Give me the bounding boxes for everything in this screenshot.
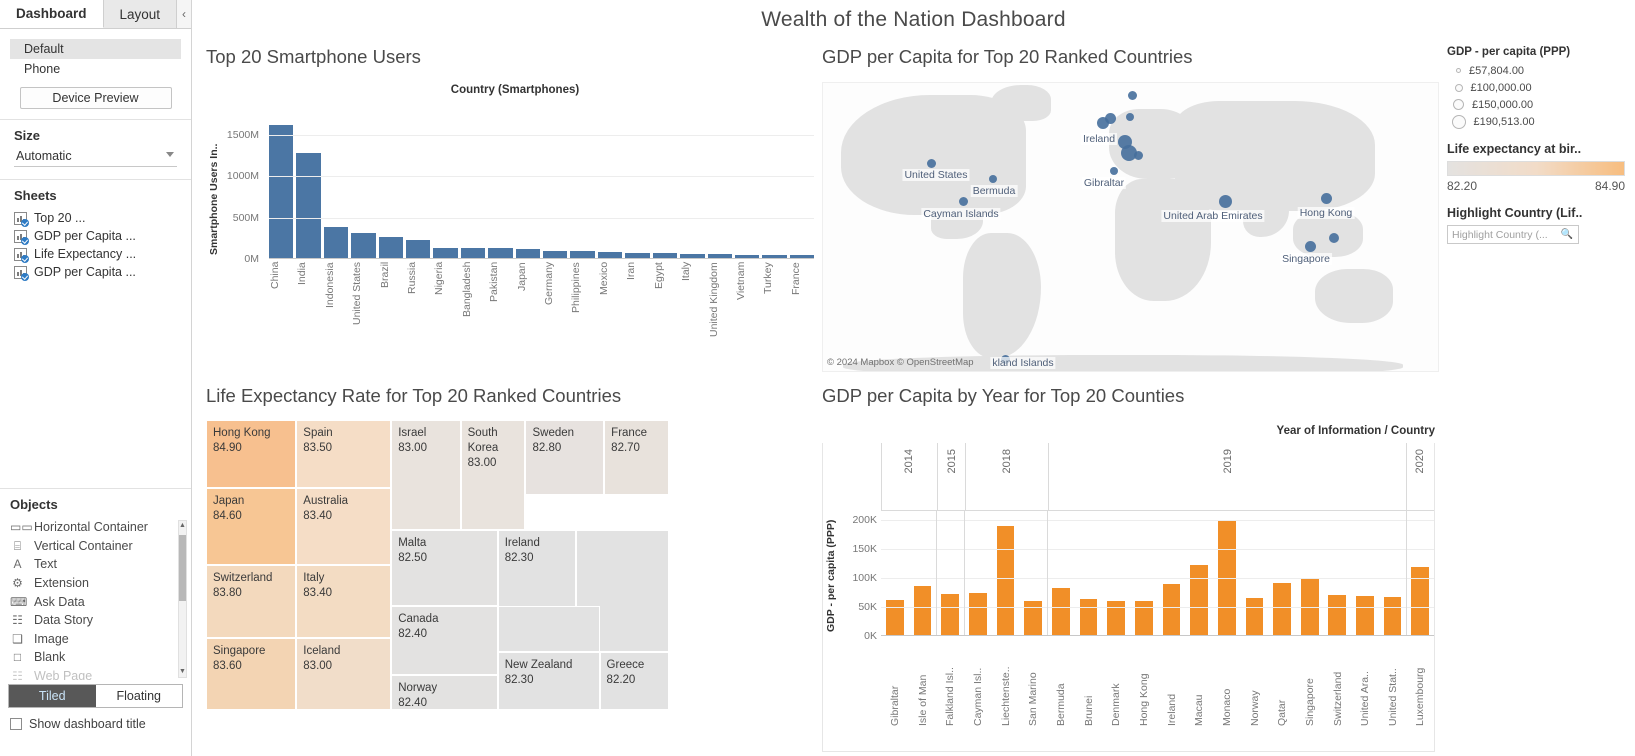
year-group-header: 2020 bbox=[1406, 443, 1434, 510]
map-point[interactable] bbox=[1329, 233, 1339, 243]
treemap-cell-value: 82.40 bbox=[398, 696, 490, 710]
object-item-ask-data[interactable]: ⌨ Ask Data bbox=[10, 592, 191, 611]
gdp-year-header-row: 20142015201820192020 bbox=[881, 443, 1434, 511]
treemap-cell-label: New Zealand bbox=[505, 658, 593, 673]
x-tick-label: Luxembourg bbox=[1406, 637, 1434, 729]
map-label-united-states: United States bbox=[902, 169, 969, 181]
color-legend-scale: 82.20 84.90 bbox=[1447, 179, 1625, 193]
bar[interactable] bbox=[1246, 598, 1264, 635]
treemap-cell-value: 83.00 bbox=[398, 441, 453, 456]
bar[interactable] bbox=[543, 251, 567, 258]
map-point[interactable] bbox=[989, 175, 997, 183]
map-label-ireland: Ireland bbox=[1081, 133, 1117, 145]
object-label: Extension bbox=[34, 576, 89, 590]
treemap-cell[interactable]: Singapore83.60 bbox=[206, 638, 296, 711]
object-label: Web Page bbox=[34, 669, 92, 680]
floating-button[interactable]: Floating bbox=[96, 685, 183, 707]
x-tick-label: Egypt bbox=[653, 262, 677, 367]
legend-circle-icon bbox=[1456, 68, 1461, 73]
y-tick-label: 150K bbox=[852, 543, 877, 555]
bar[interactable] bbox=[570, 251, 594, 258]
sheet-item-gdp-year[interactable]: GDP per Capita ... bbox=[10, 263, 181, 281]
year-label: 2014 bbox=[903, 449, 915, 473]
size-heading: Size bbox=[14, 128, 181, 143]
y-tick-label: 200K bbox=[852, 514, 877, 526]
object-item-web-page[interactable]: ☷ Web Page bbox=[10, 667, 191, 680]
size-value: Automatic bbox=[16, 149, 72, 163]
gdp-year-bars bbox=[881, 511, 1434, 636]
bar-slot bbox=[1019, 511, 1047, 635]
bar-slot bbox=[1102, 511, 1130, 635]
group-separator bbox=[964, 511, 965, 635]
vertical-container-icon: ⌸ bbox=[10, 540, 25, 552]
collapse-panel-icon[interactable]: ‹ bbox=[177, 0, 191, 28]
bar[interactable] bbox=[708, 254, 732, 258]
treemap-cell[interactable]: Italy83.40 bbox=[296, 565, 391, 638]
smartphone-y-ticks: 0M500M1000M1500M bbox=[224, 114, 264, 259]
highlight-country-placeholder: Highlight Country (... bbox=[1452, 229, 1548, 241]
treemap-cell-value: 83.50 bbox=[303, 441, 384, 456]
tab-layout[interactable]: Layout bbox=[104, 0, 178, 28]
bar-slot bbox=[992, 511, 1020, 635]
treemap-cell-label: Singapore bbox=[213, 644, 289, 659]
treemap-cell-label: Iceland bbox=[303, 644, 384, 659]
map-label-singapore: Singapore bbox=[1280, 253, 1332, 265]
blank-icon: □ bbox=[10, 651, 25, 663]
x-tick-label: Italy bbox=[680, 262, 704, 367]
x-tick-label: United Kingdom bbox=[708, 262, 732, 367]
map-point[interactable] bbox=[959, 197, 968, 206]
size-select[interactable]: Automatic bbox=[14, 147, 177, 167]
x-tick-label: Iran bbox=[625, 262, 649, 367]
object-item-image[interactable]: ❑ Image bbox=[10, 630, 191, 649]
device-item-default[interactable]: Default bbox=[10, 39, 181, 59]
treemap-cell-value: 83.40 bbox=[303, 586, 384, 601]
x-tick-label: Singapore bbox=[1296, 637, 1324, 729]
bar[interactable] bbox=[1328, 595, 1346, 635]
treemap-cell-label: Japan bbox=[213, 494, 289, 509]
bar[interactable] bbox=[324, 227, 348, 258]
treemap-cell-value: 82.50 bbox=[398, 551, 490, 566]
legend-circle-icon bbox=[1453, 99, 1464, 110]
object-item-text[interactable]: A Text bbox=[10, 555, 191, 574]
gdp-year-title: GDP per Capita by Year for Top 20 Counti… bbox=[822, 385, 1439, 407]
treemap-cell-label: Hong Kong bbox=[213, 426, 289, 441]
search-icon[interactable]: 🔍 bbox=[1561, 229, 1573, 240]
object-label: Data Story bbox=[34, 613, 93, 627]
x-tick-label: Norway bbox=[1241, 637, 1269, 729]
treemap-cell-label: Australia bbox=[303, 494, 384, 509]
panel-life-expectancy: Life Expectancy Rate for Top 20 Ranked C… bbox=[206, 385, 824, 755]
scroll-up-icon[interactable]: ▲ bbox=[179, 521, 186, 531]
treemap-cell[interactable] bbox=[498, 606, 600, 652]
bar-slot bbox=[1185, 511, 1213, 635]
object-item-vertical-container[interactable]: ⌸ Vertical Container bbox=[10, 537, 191, 556]
data-story-icon: ☷ bbox=[10, 614, 25, 626]
object-item-extension[interactable]: ⚙ Extension bbox=[10, 574, 191, 593]
worksheet-icon bbox=[14, 230, 27, 243]
bar[interactable] bbox=[969, 593, 987, 635]
show-dashboard-title-checkbox[interactable] bbox=[10, 718, 22, 730]
treemap-cell-value: 83.60 bbox=[213, 659, 289, 674]
sheet-label: Life Expectancy ... bbox=[34, 247, 136, 261]
x-tick-label: Brunei bbox=[1075, 637, 1103, 729]
color-legend-max: 84.90 bbox=[1595, 179, 1625, 193]
bar[interactable] bbox=[598, 252, 622, 258]
tableau-dashboard-window: Dashboard Layout ‹ Default Phone Device … bbox=[0, 0, 1635, 756]
extension-icon: ⚙ bbox=[10, 577, 25, 589]
x-tick-label: Philippines bbox=[570, 262, 594, 367]
size-legend-value: £150,000.00 bbox=[1472, 99, 1533, 111]
sidebar-tabs: Dashboard Layout ‹ bbox=[0, 0, 191, 29]
bar[interactable] bbox=[1356, 596, 1374, 635]
year-group-header: 2015 bbox=[937, 443, 965, 510]
treemap-cell-value: 83.00 bbox=[303, 659, 384, 674]
x-tick-label: Russia bbox=[406, 262, 430, 367]
map-point[interactable] bbox=[1321, 193, 1332, 204]
treemap-cell[interactable]: Spain83.50 bbox=[296, 420, 391, 488]
bar-slot bbox=[909, 511, 937, 635]
treemap-cell-value: 82.20 bbox=[607, 673, 662, 688]
life-expectancy-treemap: Hong Kong84.90Spain83.50Israel83.00South… bbox=[206, 420, 669, 710]
bar[interactable] bbox=[406, 240, 430, 258]
year-label: 2015 bbox=[946, 449, 958, 473]
treemap-cell[interactable]: Malta82.50 bbox=[391, 530, 497, 605]
size-legend-item[interactable]: £57,804.00 bbox=[1447, 62, 1635, 79]
group-separator bbox=[1406, 511, 1407, 635]
treemap-cell-label: Ireland bbox=[505, 536, 570, 551]
x-tick-label: India bbox=[296, 262, 320, 367]
year-label: 2018 bbox=[1001, 449, 1013, 473]
gdp-year-y-ticks: 0K50K100K150K200K bbox=[839, 511, 881, 636]
x-tick-label: Isle of Man bbox=[909, 637, 937, 729]
x-tick-label: Hong Kong bbox=[1130, 637, 1158, 729]
dashboard-canvas: Wealth of the Nation Dashboard Top 20 Sm… bbox=[192, 0, 1635, 756]
web-page-icon: ☷ bbox=[10, 670, 25, 680]
show-dashboard-title-row[interactable]: Show dashboard title bbox=[10, 717, 191, 731]
map-legend-panel: GDP - per capita (PPP) £57,804.00 £100,0… bbox=[1439, 46, 1635, 276]
bar-slot bbox=[1406, 511, 1434, 635]
x-tick-label: Bangladesh bbox=[461, 262, 485, 367]
bar-slot bbox=[1241, 511, 1269, 635]
bar[interactable] bbox=[488, 248, 512, 258]
sheet-item-top20[interactable]: Top 20 ... bbox=[10, 209, 181, 227]
panel-gdp-map: GDP per Capita for Top 20 Ranked Countri… bbox=[822, 46, 1439, 386]
treemap-cell[interactable]: Iceland83.00 bbox=[296, 638, 391, 711]
x-tick-label: Germany bbox=[543, 262, 567, 367]
size-legend-value: £190,513.00 bbox=[1474, 116, 1535, 128]
objects-list: ▭▭ Horizontal Container ⌸ Vertical Conta… bbox=[0, 518, 191, 680]
landmass-australia bbox=[1315, 269, 1393, 323]
treemap-cell-label: Israel bbox=[398, 426, 453, 441]
bar[interactable] bbox=[461, 248, 485, 258]
treemap-cell-value: 82.30 bbox=[505, 673, 593, 688]
x-tick-label: France bbox=[790, 262, 814, 367]
bar[interactable] bbox=[351, 233, 375, 258]
treemap-cell[interactable]: Canada82.40 bbox=[391, 606, 497, 676]
treemap-cell-label: Spain bbox=[303, 426, 384, 441]
x-tick-label: United States bbox=[351, 262, 375, 367]
treemap-title: Life Expectancy Rate for Top 20 Ranked C… bbox=[206, 385, 824, 407]
bar-slot bbox=[1213, 511, 1241, 635]
gridline bbox=[269, 218, 814, 219]
bar[interactable] bbox=[1080, 599, 1098, 635]
bar[interactable] bbox=[653, 253, 677, 258]
map-label-hong-kong: Hong Kong bbox=[1298, 207, 1355, 219]
bar[interactable] bbox=[1163, 584, 1181, 635]
bar[interactable] bbox=[379, 237, 403, 258]
sheets-heading: Sheets bbox=[14, 188, 181, 203]
x-tick-label: San Marino bbox=[1019, 637, 1047, 729]
gdp-year-x-labels: GibraltarIsle of ManFalkland Isl..Cayman… bbox=[881, 637, 1434, 729]
bar[interactable] bbox=[1135, 601, 1153, 635]
treemap-cell[interactable]: Australia83.40 bbox=[296, 488, 391, 565]
sheet-item-life-expectancy[interactable]: Life Expectancy ... bbox=[10, 245, 181, 263]
color-legend-title: Life expectancy at bir.. bbox=[1447, 142, 1635, 156]
treemap-cell-label: France bbox=[611, 426, 662, 441]
map-attribution: © 2024 Mapbox © OpenStreetMap bbox=[827, 357, 974, 368]
size-legend-value: £57,804.00 bbox=[1469, 65, 1524, 77]
bar[interactable] bbox=[625, 253, 649, 258]
sheets-section: Sheets Top 20 ... GDP per Capita ... Lif… bbox=[0, 180, 191, 289]
year-label: 2020 bbox=[1414, 449, 1426, 473]
bar[interactable] bbox=[1052, 588, 1070, 635]
map-point[interactable] bbox=[1219, 195, 1232, 208]
bar-slot bbox=[1324, 511, 1352, 635]
smartphone-chart-title: Top 20 Smartphone Users bbox=[206, 46, 824, 68]
x-tick-label: China bbox=[269, 262, 293, 367]
year-group-header: 2014 bbox=[881, 443, 937, 510]
map-point[interactable] bbox=[1126, 113, 1134, 121]
size-section: Size Automatic bbox=[0, 120, 191, 180]
treemap-cell-value: 83.00 bbox=[468, 456, 519, 471]
bar-slot bbox=[1379, 511, 1407, 635]
device-list: Default Phone bbox=[10, 35, 181, 79]
bar-slot bbox=[1296, 511, 1324, 635]
x-tick-label: Ireland bbox=[1158, 637, 1186, 729]
tiled-floating-toggle: Tiled Floating bbox=[8, 684, 183, 708]
page-title: Wealth of the Nation Dashboard bbox=[192, 0, 1635, 32]
world-map[interactable]: United States Bermuda Cayman Islands Ire… bbox=[822, 82, 1439, 372]
gridline bbox=[269, 135, 814, 136]
left-sidebar: Dashboard Layout ‹ Default Phone Device … bbox=[0, 0, 192, 756]
map-point[interactable] bbox=[927, 159, 936, 168]
objects-heading: Objects bbox=[10, 497, 191, 512]
gridline bbox=[269, 176, 814, 177]
object-label: Ask Data bbox=[34, 595, 85, 609]
bar-slot bbox=[1075, 511, 1103, 635]
device-section: Default Phone Device Preview bbox=[0, 29, 191, 120]
device-item-phone[interactable]: Phone bbox=[10, 59, 181, 79]
y-tick-label: 500M bbox=[233, 212, 259, 224]
bar[interactable] bbox=[516, 249, 540, 258]
object-label: Image bbox=[34, 632, 69, 646]
x-tick-label: Mexico bbox=[598, 262, 622, 367]
bar[interactable] bbox=[997, 526, 1015, 635]
object-label: Blank bbox=[34, 650, 65, 664]
y-tick-label: 50K bbox=[858, 601, 877, 613]
tab-dashboard[interactable]: Dashboard bbox=[0, 0, 104, 28]
smartphone-x-labels: ChinaIndiaIndonesiaUnited StatesBrazilRu… bbox=[269, 262, 814, 367]
treemap-cell-value: 82.80 bbox=[532, 441, 597, 456]
bar[interactable] bbox=[1273, 583, 1291, 635]
treemap-cell[interactable]: Israel83.00 bbox=[391, 420, 460, 530]
treemap-cell-value: 83.80 bbox=[213, 586, 289, 601]
treemap-cell[interactable]: Hong Kong84.90 bbox=[206, 420, 296, 488]
map-point[interactable] bbox=[1105, 113, 1116, 124]
tab-dashboard-label: Dashboard bbox=[16, 6, 87, 21]
sheet-item-gdp-map[interactable]: GDP per Capita ... bbox=[10, 227, 181, 245]
bar[interactable] bbox=[790, 255, 814, 258]
bar[interactable] bbox=[269, 125, 293, 258]
year-label: 2019 bbox=[1222, 449, 1234, 473]
treemap-cell-label: Switzerland bbox=[213, 571, 289, 586]
map-label-united-arab-emirates: United Arab Emirates bbox=[1161, 210, 1264, 222]
scrollbar-thumb[interactable] bbox=[179, 535, 186, 601]
bar[interactable] bbox=[1024, 601, 1042, 635]
bar-slot bbox=[964, 511, 992, 635]
treemap-cell-label: Norway bbox=[398, 681, 490, 696]
x-tick-label: Nigeria bbox=[433, 262, 457, 367]
treemap-cell[interactable]: Sweden82.80 bbox=[525, 420, 604, 495]
object-item-blank[interactable]: □ Blank bbox=[10, 648, 191, 667]
sheet-label: GDP per Capita ... bbox=[34, 265, 136, 279]
x-tick-label: Brazil bbox=[379, 262, 403, 367]
smartphone-plot-area: Smartphone Users In.. 0M500M1000M1500M C… bbox=[206, 96, 824, 366]
bar-slot bbox=[1268, 511, 1296, 635]
map-point[interactable] bbox=[1134, 151, 1143, 160]
bar[interactable] bbox=[1190, 565, 1208, 635]
landmass-greenland bbox=[991, 85, 1051, 121]
highlight-filter-title: Highlight Country (Lif.. bbox=[1447, 206, 1635, 220]
treemap-cell-value: 84.60 bbox=[213, 509, 289, 524]
legend-circle-icon bbox=[1452, 115, 1466, 129]
objects-scrollbar[interactable]: ▲ ▼ bbox=[178, 520, 187, 678]
device-phone-label: Phone bbox=[24, 62, 60, 76]
year-group-header: 2018 bbox=[965, 443, 1048, 510]
x-tick-label: Japan bbox=[516, 262, 540, 367]
year-group-header: 2019 bbox=[1048, 443, 1405, 510]
objects-section: Objects ▭▭ Horizontal Container ⌸ Vertic… bbox=[0, 488, 191, 756]
treemap-cell-label: Greece bbox=[607, 658, 662, 673]
map-title: GDP per Capita for Top 20 Ranked Countri… bbox=[822, 46, 1439, 68]
x-tick-label: Cayman Isl.. bbox=[964, 637, 992, 729]
map-point[interactable] bbox=[1110, 167, 1118, 175]
gdp-year-y-axis-label: GDP - per capita (PPP) bbox=[825, 513, 840, 638]
x-tick-label: Monaco bbox=[1213, 637, 1241, 729]
color-legend-min: 82.20 bbox=[1447, 179, 1477, 193]
highlight-country-input[interactable]: Highlight Country (... 🔍 bbox=[1447, 225, 1579, 244]
bar-slot bbox=[1130, 511, 1158, 635]
size-legend-item[interactable]: £190,513.00 bbox=[1447, 113, 1635, 130]
bar[interactable] bbox=[914, 586, 932, 635]
object-label: Horizontal Container bbox=[34, 520, 148, 534]
sheet-label: GDP per Capita ... bbox=[34, 229, 136, 243]
tiled-button[interactable]: Tiled bbox=[9, 685, 96, 707]
x-tick-label: Indonesia bbox=[324, 262, 348, 367]
worksheet-icon bbox=[14, 248, 27, 261]
map-point[interactable] bbox=[1305, 241, 1316, 252]
map-label-gibraltar: Gibraltar bbox=[1082, 177, 1126, 189]
treemap-cell[interactable]: France82.70 bbox=[604, 420, 669, 495]
y-tick-label: 1500M bbox=[227, 129, 259, 141]
y-tick-label: 1000M bbox=[227, 170, 259, 182]
bar[interactable] bbox=[735, 255, 759, 258]
x-tick-label: United Stat.. bbox=[1379, 637, 1407, 729]
treemap-cell-label: Malta bbox=[398, 536, 490, 551]
x-tick-label: Qatar bbox=[1268, 637, 1296, 729]
x-tick-label: Vietnam bbox=[735, 262, 759, 367]
y-tick-label: 100K bbox=[852, 572, 877, 584]
bar[interactable] bbox=[886, 600, 904, 635]
image-icon: ❑ bbox=[10, 633, 25, 645]
ask-data-icon: ⌨ bbox=[10, 596, 25, 608]
panel-smartphone-users: Top 20 Smartphone Users Country (Smartph… bbox=[206, 46, 824, 386]
map-label-cayman-islands: Cayman Islands bbox=[921, 208, 1000, 220]
y-tick-label: 0M bbox=[244, 253, 259, 265]
worksheet-icon bbox=[14, 266, 27, 279]
device-preview-button[interactable]: Device Preview bbox=[20, 87, 172, 109]
x-tick-label: Gibraltar bbox=[881, 637, 909, 729]
gdp-year-chart: 20142015201820192020 GDP - per capita (P… bbox=[822, 443, 1435, 752]
sheets-list: Top 20 ... GDP per Capita ... Life Expec… bbox=[10, 209, 181, 281]
x-tick-label: Liechtenste.. bbox=[992, 637, 1020, 729]
object-item-data-story[interactable]: ☷ Data Story bbox=[10, 611, 191, 630]
bar[interactable] bbox=[296, 153, 320, 258]
smartphone-y-axis-label: Smartphone Users In.. bbox=[208, 124, 224, 274]
group-separator bbox=[1047, 511, 1048, 635]
tab-layout-label: Layout bbox=[120, 7, 161, 22]
object-item-horizontal-container[interactable]: ▭▭ Horizontal Container bbox=[10, 518, 191, 537]
bar[interactable] bbox=[941, 594, 959, 635]
bar-slot bbox=[881, 511, 909, 635]
bar-slot bbox=[1351, 511, 1379, 635]
bar[interactable] bbox=[1384, 597, 1402, 635]
color-legend-gradient bbox=[1447, 161, 1625, 176]
map-point[interactable] bbox=[1128, 91, 1137, 100]
treemap-cell-label: South Korea bbox=[468, 426, 519, 456]
treemap-cell[interactable]: New Zealand82.30 bbox=[498, 652, 600, 710]
treemap-cell-label: Italy bbox=[303, 571, 384, 586]
map-label-bermuda: Bermuda bbox=[971, 185, 1018, 197]
treemap-cell[interactable]: Norway82.40 bbox=[391, 675, 497, 710]
size-legend-item[interactable]: £150,000.00 bbox=[1447, 96, 1635, 113]
object-label: Vertical Container bbox=[34, 539, 133, 553]
x-tick-label: Pakistan bbox=[488, 262, 512, 367]
treemap-cell[interactable]: Greece82.20 bbox=[600, 652, 669, 710]
gdp-year-column-header: Year of Information / Country bbox=[1277, 425, 1435, 437]
sheet-label: Top 20 ... bbox=[34, 211, 85, 225]
x-tick-label: Turkey bbox=[762, 262, 786, 367]
treemap-cell-value: 83.40 bbox=[303, 509, 384, 524]
bar-slot bbox=[936, 511, 964, 635]
bar-slot bbox=[1047, 511, 1075, 635]
size-legend-item[interactable]: £100,000.00 bbox=[1447, 79, 1635, 96]
treemap-cell[interactable]: Switzerland83.80 bbox=[206, 565, 296, 638]
treemap-cell[interactable]: South Korea83.00 bbox=[461, 420, 526, 530]
bar[interactable] bbox=[762, 255, 786, 258]
text-icon: A bbox=[10, 558, 25, 570]
smartphone-bars bbox=[269, 114, 814, 259]
x-tick-label: Denmark bbox=[1102, 637, 1130, 729]
horizontal-container-icon: ▭▭ bbox=[10, 521, 25, 533]
bar[interactable] bbox=[433, 248, 457, 258]
treemap-cell-value: 82.40 bbox=[398, 627, 490, 642]
worksheet-icon bbox=[14, 212, 27, 225]
treemap-cell[interactable]: Japan84.60 bbox=[206, 488, 296, 565]
bar[interactable] bbox=[680, 254, 704, 258]
scroll-down-icon[interactable]: ▼ bbox=[179, 667, 186, 677]
